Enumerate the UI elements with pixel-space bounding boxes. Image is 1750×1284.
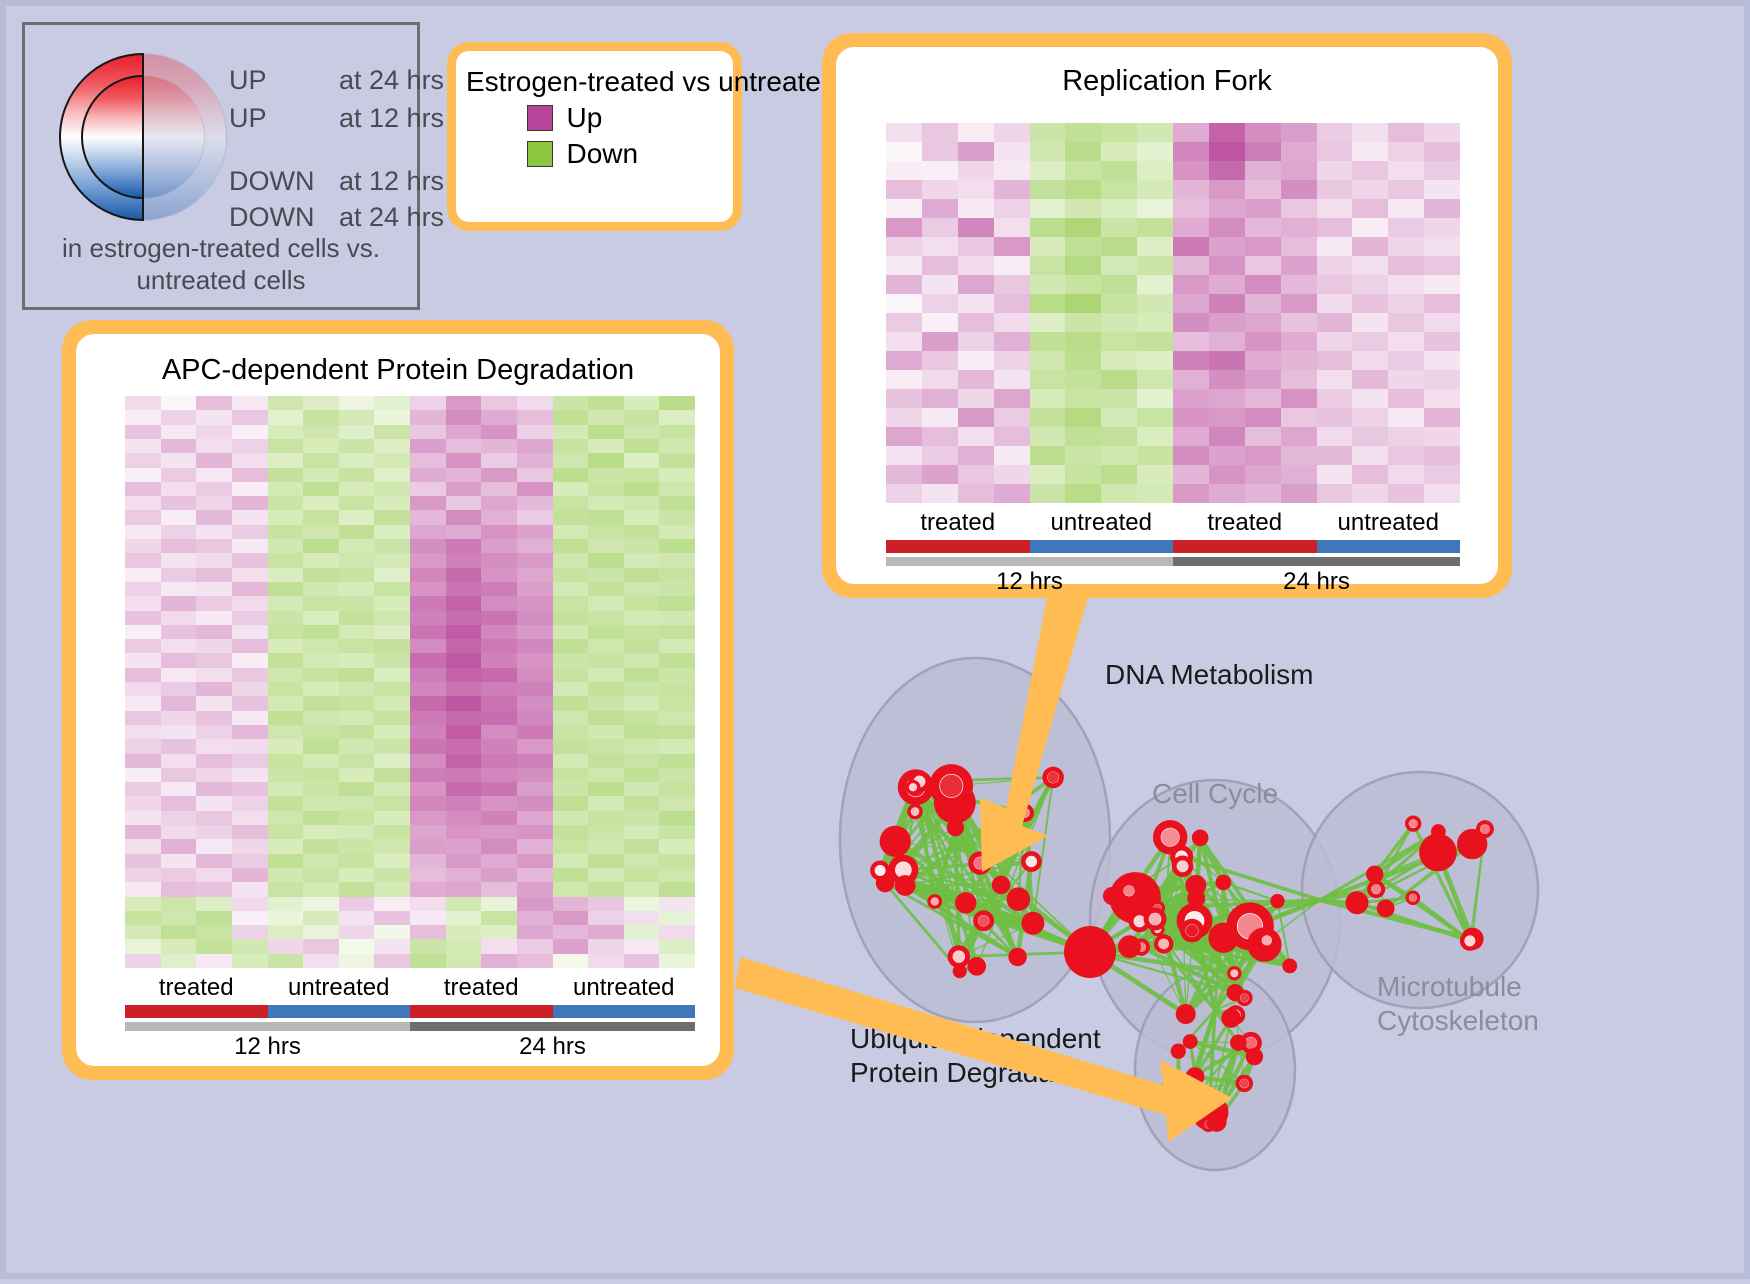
heatmap-cell xyxy=(659,796,695,810)
heatmap-cell xyxy=(268,653,304,667)
heatmap-cell xyxy=(588,811,624,825)
heatmap-cell xyxy=(268,568,304,582)
heatmap-cell xyxy=(553,782,589,796)
heatmap-cell xyxy=(1388,446,1424,465)
heatmap-cell xyxy=(922,256,958,275)
heatmap-cell xyxy=(125,653,161,667)
heatmap-cell xyxy=(161,468,197,482)
heatmap-cell xyxy=(268,925,304,939)
heatmap-cell xyxy=(339,911,375,925)
heatmap-cell xyxy=(410,525,446,539)
heatmap-cell xyxy=(196,754,232,768)
heatmap-cell xyxy=(588,510,624,524)
heatmap-cell xyxy=(517,496,553,510)
heatmap-cell xyxy=(624,510,660,524)
heatmap-cell xyxy=(1281,123,1317,142)
heatmap-cell xyxy=(374,653,410,667)
heatmap-cell xyxy=(588,396,624,410)
network-node-core xyxy=(1026,856,1037,867)
heatmap-cell xyxy=(446,868,482,882)
network-svg xyxy=(760,600,1750,1279)
heatmap-cell xyxy=(339,825,375,839)
heatmap-cell xyxy=(1317,446,1353,465)
heatmap-cell xyxy=(481,897,517,911)
heatmap-cell xyxy=(659,911,695,925)
time-bar-12 xyxy=(125,1022,410,1031)
heatmap-cell xyxy=(1173,408,1209,427)
heatmap-cell xyxy=(553,553,589,567)
heatmap-cell xyxy=(588,696,624,710)
heatmap-cell xyxy=(624,782,660,796)
heatmap-cell xyxy=(624,539,660,553)
heatmap-cell xyxy=(410,939,446,953)
heatmap-cell xyxy=(339,625,375,639)
network-node-core xyxy=(1409,819,1417,827)
heatmap-cell xyxy=(1352,142,1388,161)
network-node xyxy=(1377,899,1395,917)
heatmap-cell xyxy=(553,739,589,753)
heatmap-cell xyxy=(1424,294,1460,313)
heatmap-cell xyxy=(1030,161,1066,180)
heatmap-cell xyxy=(374,539,410,553)
heatmap-cell xyxy=(410,882,446,896)
heatmap-cell xyxy=(232,468,268,482)
heatmap-cell xyxy=(1030,237,1066,256)
network-node xyxy=(1183,1034,1198,1049)
heatmap-cell xyxy=(1101,142,1137,161)
heatmap-cell xyxy=(303,725,339,739)
heatmap-cell xyxy=(446,482,482,496)
heatmap-cell xyxy=(339,582,375,596)
heatmap-cell xyxy=(1101,427,1137,446)
heatmap-cell xyxy=(125,811,161,825)
heatmap-cell xyxy=(1137,370,1173,389)
heatmap-cell xyxy=(481,639,517,653)
heatmap-cell xyxy=(410,553,446,567)
heatmap-cell xyxy=(410,868,446,882)
heatmap-cell xyxy=(374,425,410,439)
heatmap-cell xyxy=(161,868,197,882)
heatmap-cell xyxy=(517,653,553,667)
heatmap-cell xyxy=(588,468,624,482)
down-label: Down xyxy=(567,138,663,170)
heatmap-cell xyxy=(922,465,958,484)
heatmap-cell xyxy=(958,351,994,370)
replication-time-bar xyxy=(886,557,1460,566)
heatmap-cell xyxy=(922,313,958,332)
heatmap-cell xyxy=(1388,180,1424,199)
heatmap-cell xyxy=(624,939,660,953)
heatmap-cell xyxy=(161,668,197,682)
heatmap-cell xyxy=(1424,370,1460,389)
heatmap-cell xyxy=(659,496,695,510)
heatmap-cell xyxy=(517,796,553,810)
heatmap-cell xyxy=(1101,389,1137,408)
heatmap-cell xyxy=(1424,237,1460,256)
heatmap-cell xyxy=(232,711,268,725)
heatmap-cell xyxy=(374,682,410,696)
heatmap-cell xyxy=(588,954,624,968)
heatmap-cell xyxy=(553,625,589,639)
color-key-box: UPat 24 hrs UPat 12 hrs DOWNat 12 hrs DO… xyxy=(22,22,420,310)
heatmap-cell xyxy=(994,199,1030,218)
heatmap-cell xyxy=(232,653,268,667)
heatmap-cell xyxy=(374,439,410,453)
heatmap-cell xyxy=(1173,351,1209,370)
heatmap-cell xyxy=(659,668,695,682)
heatmap-cell xyxy=(553,796,589,810)
heatmap-cell xyxy=(588,754,624,768)
heatmap-cell xyxy=(1388,294,1424,313)
heatmap-cell xyxy=(588,439,624,453)
heatmap-cell xyxy=(1352,370,1388,389)
heatmap-cell xyxy=(1388,161,1424,180)
heatmap-cell xyxy=(1317,351,1353,370)
heatmap-cell xyxy=(339,539,375,553)
heatmap-cell xyxy=(922,161,958,180)
heatmap-cell xyxy=(624,682,660,696)
heatmap-cell xyxy=(886,142,922,161)
heatmap-cell xyxy=(886,256,922,275)
heatmap-cell xyxy=(994,484,1030,503)
heatmap-cell xyxy=(339,725,375,739)
heatmap-cell xyxy=(125,625,161,639)
heatmap-cell xyxy=(303,711,339,725)
heatmap-cell xyxy=(268,811,304,825)
heatmap-cell xyxy=(481,453,517,467)
heatmap-cell xyxy=(886,237,922,256)
heatmap-cell xyxy=(339,525,375,539)
heatmap-cell xyxy=(659,439,695,453)
heatmap-cell xyxy=(374,925,410,939)
heatmap-cell xyxy=(374,639,410,653)
heatmap-cell xyxy=(1137,465,1173,484)
heatmap-cell xyxy=(303,482,339,496)
network-node xyxy=(967,957,986,976)
heatmap-cell xyxy=(1137,313,1173,332)
time-bar-24 xyxy=(1173,557,1460,566)
heatmap-cell xyxy=(1065,408,1101,427)
heatmap-cell xyxy=(1424,275,1460,294)
heatmap-cell xyxy=(1388,427,1424,446)
heatmap-cell xyxy=(624,453,660,467)
heatmap-cell xyxy=(268,939,304,953)
heatmap-cell xyxy=(1352,161,1388,180)
heatmap-cell xyxy=(125,739,161,753)
heatmap-cell xyxy=(125,553,161,567)
heatmap-cell xyxy=(553,611,589,625)
heatmap-cell xyxy=(659,882,695,896)
updown-legend-item-down: Down xyxy=(466,138,723,170)
heatmap-cell xyxy=(1424,142,1460,161)
heatmap-cell xyxy=(624,596,660,610)
heatmap-cell xyxy=(232,396,268,410)
heatmap-cell xyxy=(196,553,232,567)
heatmap-cell xyxy=(410,768,446,782)
heatmap-cell xyxy=(1137,199,1173,218)
heatmap-cell xyxy=(1245,484,1281,503)
heatmap-cell xyxy=(922,427,958,446)
network-node-core xyxy=(1245,1037,1256,1048)
heatmap-cell xyxy=(1317,218,1353,237)
heatmap-cell xyxy=(1245,180,1281,199)
heatmap-cell xyxy=(1209,275,1245,294)
heatmap-cell xyxy=(1317,256,1353,275)
network-node-core xyxy=(1409,894,1417,902)
heatmap-cell xyxy=(1352,465,1388,484)
heatmap-cell xyxy=(374,754,410,768)
heatmap-cell xyxy=(410,854,446,868)
heatmap-cell xyxy=(161,611,197,625)
heatmap-cell xyxy=(481,868,517,882)
heatmap-cell xyxy=(553,868,589,882)
heatmap-cell xyxy=(553,439,589,453)
heatmap-cell xyxy=(958,180,994,199)
network-node xyxy=(895,875,916,896)
heatmap-cell xyxy=(517,811,553,825)
heatmap-cell xyxy=(232,510,268,524)
heatmap-cell xyxy=(339,496,375,510)
heatmap-cell xyxy=(1245,351,1281,370)
heatmap-cell xyxy=(196,453,232,467)
heatmap-cell xyxy=(1173,446,1209,465)
heatmap-cell xyxy=(1173,275,1209,294)
heatmap-cell xyxy=(1281,389,1317,408)
heatmap-cell xyxy=(374,825,410,839)
heatmap-cell xyxy=(553,496,589,510)
heatmap-cell xyxy=(1137,218,1173,237)
heatmap-cell xyxy=(1173,389,1209,408)
heatmap-cell xyxy=(1424,256,1460,275)
heatmap-cell xyxy=(374,668,410,682)
heatmap-cell xyxy=(196,897,232,911)
apc-time-labels: 12 hrs 24 hrs xyxy=(125,1033,695,1061)
heatmap-cell xyxy=(303,825,339,839)
heatmap-cell xyxy=(553,596,589,610)
heatmap-cell xyxy=(303,439,339,453)
heatmap-cell xyxy=(994,142,1030,161)
heatmap-cell xyxy=(659,825,695,839)
heatmap-cell xyxy=(1424,123,1460,142)
heatmap-cell xyxy=(994,294,1030,313)
heatmap-cell xyxy=(922,199,958,218)
heatmap-cell xyxy=(1065,199,1101,218)
heatmap-cell xyxy=(624,410,660,424)
heatmap-replication-fork xyxy=(886,123,1460,503)
heatmap-cell xyxy=(1065,427,1101,446)
heatmap-cell xyxy=(1245,256,1281,275)
heatmap-cell xyxy=(303,625,339,639)
heatmap-cell xyxy=(517,410,553,424)
heatmap-cell xyxy=(1137,180,1173,199)
heatmap-cell xyxy=(517,425,553,439)
heatmap-cell xyxy=(886,408,922,427)
group-label-1: untreated xyxy=(1030,509,1174,537)
heatmap-cell xyxy=(588,939,624,953)
heatmap-cell xyxy=(958,313,994,332)
heatmap-cell xyxy=(1424,446,1460,465)
group-bar-1 xyxy=(268,1005,411,1018)
heatmap-cell xyxy=(196,682,232,696)
heatmap-cell xyxy=(410,925,446,939)
heatmap-cell xyxy=(1101,446,1137,465)
network-node-core xyxy=(953,951,965,963)
heatmap-cell xyxy=(268,453,304,467)
network-diagram: DNA Metabolism Cell Cycle Microtubule Cy… xyxy=(760,600,1750,1279)
heatmap-cell xyxy=(481,696,517,710)
heatmap-cell xyxy=(1101,123,1137,142)
heatmap-cell xyxy=(1065,161,1101,180)
network-node xyxy=(1270,894,1284,908)
heatmap-cell xyxy=(1101,275,1137,294)
network-node-core xyxy=(1465,936,1475,946)
heatmap-cell xyxy=(232,768,268,782)
heatmap-cell xyxy=(196,954,232,968)
heatmap-cell xyxy=(125,825,161,839)
heatmap-cell xyxy=(1137,142,1173,161)
heatmap-cell xyxy=(1137,237,1173,256)
heatmap-cell xyxy=(1352,446,1388,465)
heatmap-cell xyxy=(588,897,624,911)
heatmap-cell xyxy=(1388,484,1424,503)
key-label-up-12: UP xyxy=(229,103,339,134)
heatmap-cell xyxy=(1137,294,1173,313)
heatmap-cell xyxy=(1388,123,1424,142)
heatmap-cell xyxy=(1388,408,1424,427)
heatmap-cell xyxy=(1352,275,1388,294)
heatmap-cell xyxy=(446,782,482,796)
heatmap-cell xyxy=(588,868,624,882)
heatmap-cell xyxy=(161,768,197,782)
network-node xyxy=(1103,887,1121,905)
heatmap-cell xyxy=(196,925,232,939)
heatmap-cell xyxy=(994,180,1030,199)
heatmap-cell xyxy=(659,768,695,782)
heatmap-cell xyxy=(1101,484,1137,503)
network-node xyxy=(992,876,1011,895)
heatmap-cell xyxy=(232,568,268,582)
heatmap-cell xyxy=(125,897,161,911)
network-node xyxy=(1176,1004,1196,1024)
heatmap-cell xyxy=(517,897,553,911)
heatmap-cell xyxy=(886,275,922,294)
heatmap-cell xyxy=(161,425,197,439)
heatmap-cell xyxy=(624,925,660,939)
group-bar-3 xyxy=(553,1005,696,1018)
heatmap-cell xyxy=(1030,218,1066,237)
heatmap-cell xyxy=(624,696,660,710)
heatmap-cell xyxy=(1030,389,1066,408)
heatmap-cell xyxy=(922,218,958,237)
heatmap-cell xyxy=(922,408,958,427)
heatmap-cell xyxy=(588,582,624,596)
heatmap-cell xyxy=(1173,180,1209,199)
heatmap-cell xyxy=(1245,427,1281,446)
network-node xyxy=(1246,1048,1263,1065)
heatmap-cell xyxy=(1245,389,1281,408)
heatmap-cell xyxy=(161,811,197,825)
network-node-core xyxy=(1173,1112,1184,1123)
heatmap-cell xyxy=(268,625,304,639)
time-bar-24 xyxy=(410,1022,695,1031)
heatmap-cell xyxy=(886,427,922,446)
heatmap-cell xyxy=(303,553,339,567)
heatmap-cell xyxy=(1065,237,1101,256)
replication-fork-title: Replication Fork xyxy=(836,65,1498,98)
heatmap-cell xyxy=(196,854,232,868)
heatmap-cell xyxy=(268,839,304,853)
heatmap-cell xyxy=(268,482,304,496)
heatmap-cell xyxy=(994,389,1030,408)
heatmap-cell xyxy=(659,539,695,553)
heatmap-cell xyxy=(1101,161,1137,180)
heatmap-cell xyxy=(1030,370,1066,389)
heatmap-cell xyxy=(588,496,624,510)
heatmap-cell xyxy=(161,882,197,896)
heatmap-cell xyxy=(374,711,410,725)
heatmap-cell xyxy=(161,754,197,768)
heatmap-cell xyxy=(1137,484,1173,503)
heatmap-cell xyxy=(1173,313,1209,332)
heatmap-cell xyxy=(374,839,410,853)
heatmap-cell xyxy=(1388,237,1424,256)
heatmap-cell xyxy=(268,854,304,868)
heatmap-cell xyxy=(624,611,660,625)
heatmap-cell xyxy=(339,925,375,939)
heatmap-cell xyxy=(1245,123,1281,142)
network-node-core xyxy=(1159,939,1169,949)
heatmap-cell xyxy=(268,754,304,768)
heatmap-cell xyxy=(517,639,553,653)
heatmap-cell xyxy=(232,925,268,939)
heatmap-cell xyxy=(1245,237,1281,256)
heatmap-cell xyxy=(446,653,482,667)
heatmap-cell xyxy=(161,396,197,410)
heatmap-cell xyxy=(303,525,339,539)
heatmap-cell xyxy=(232,897,268,911)
heatmap-cell xyxy=(446,510,482,524)
heatmap-cell xyxy=(1317,180,1353,199)
heatmap-cell xyxy=(232,954,268,968)
heatmap-cell xyxy=(446,525,482,539)
heatmap-cell xyxy=(410,596,446,610)
heatmap-cell xyxy=(446,568,482,582)
heatmap-cell xyxy=(1173,218,1209,237)
key-row-up-12: UPat 12 hrs xyxy=(229,103,444,134)
heatmap-cell xyxy=(553,425,589,439)
heatmap-cell xyxy=(553,396,589,410)
heatmap-cell xyxy=(125,954,161,968)
heatmap-cell xyxy=(374,954,410,968)
replication-annotations: treated untreated treated untreated 12 h… xyxy=(886,509,1460,596)
heatmap-cell xyxy=(481,825,517,839)
heatmap-cell xyxy=(481,582,517,596)
heatmap-cell xyxy=(446,439,482,453)
heatmap-cell xyxy=(1030,408,1066,427)
heatmap-cell xyxy=(446,668,482,682)
network-node xyxy=(1160,1082,1178,1100)
key-time-down-24: at 24 hrs xyxy=(339,202,444,233)
heatmap-cell xyxy=(268,725,304,739)
network-node xyxy=(1431,824,1446,839)
heatmap-cell xyxy=(303,739,339,753)
heatmap-cell xyxy=(196,525,232,539)
heatmap-cell xyxy=(481,911,517,925)
heatmap-cell xyxy=(303,653,339,667)
heatmap-cell xyxy=(410,739,446,753)
heatmap-cell xyxy=(1137,446,1173,465)
heatmap-cell xyxy=(196,510,232,524)
